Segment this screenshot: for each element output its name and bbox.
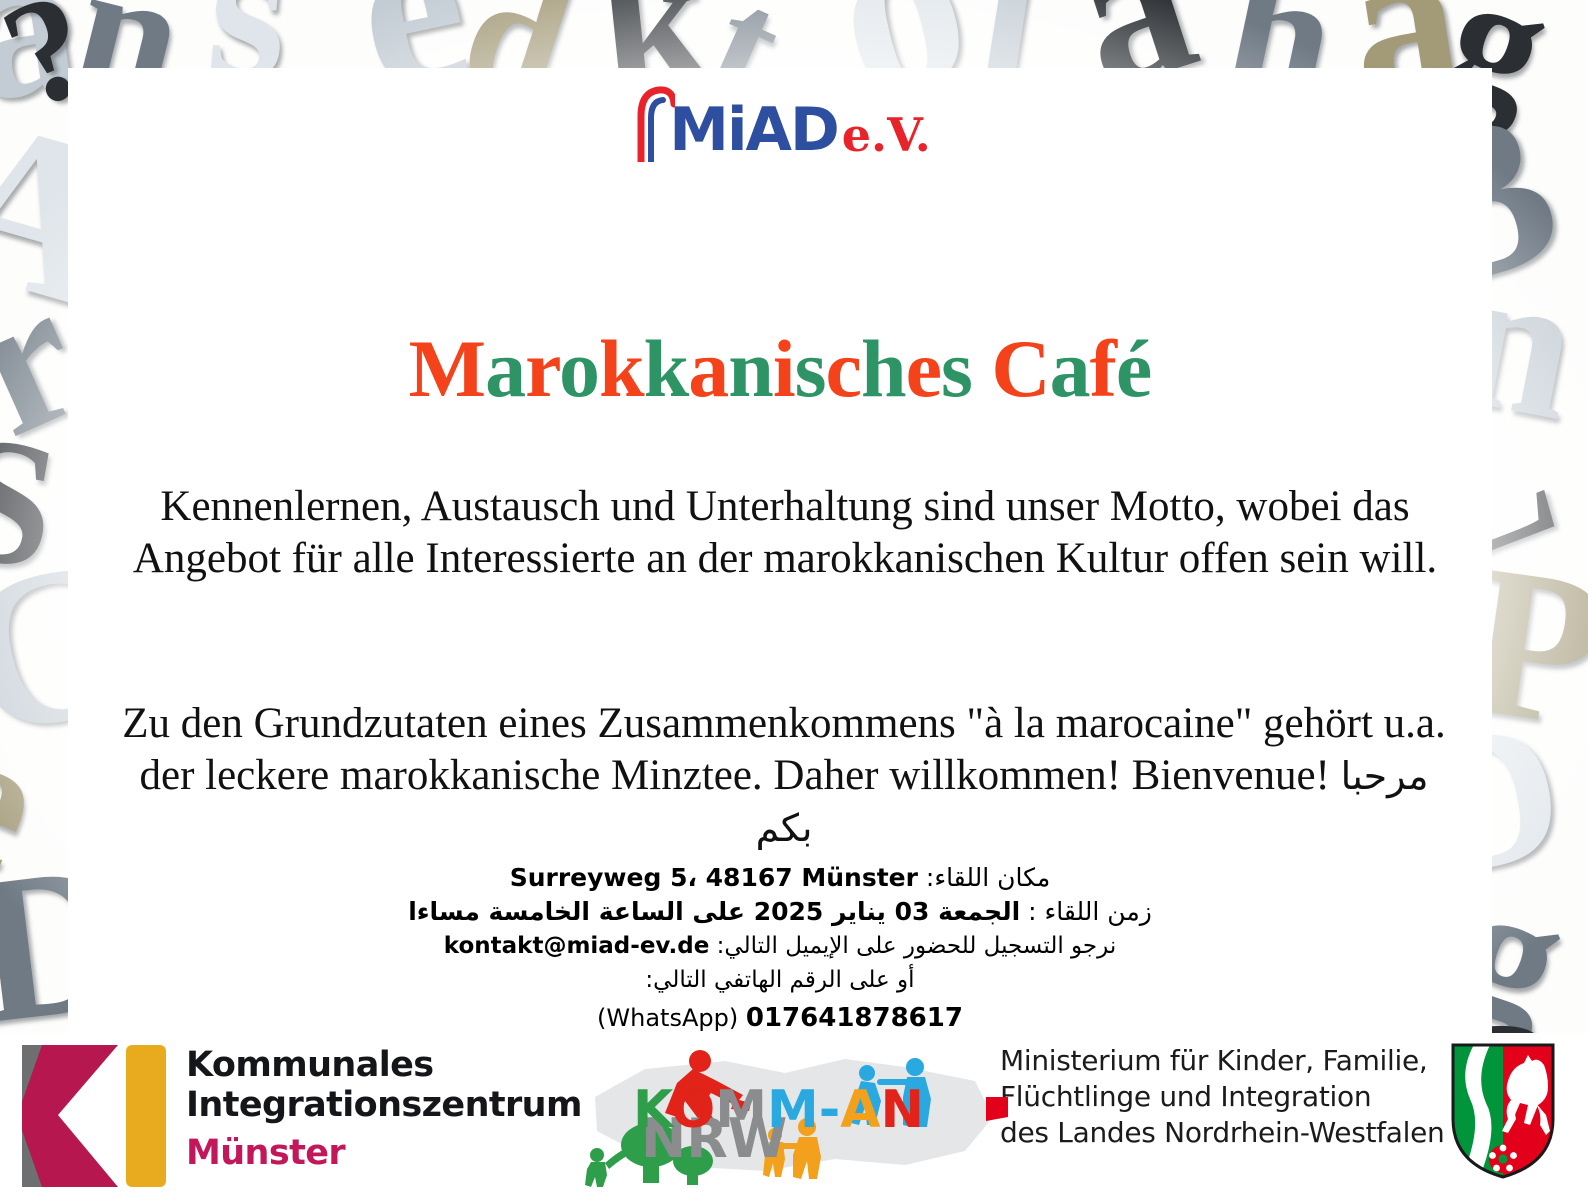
intro-paragraph: Kennenlernen, Austausch und Unterhaltung… [128, 481, 1442, 585]
ministry-line-2: Flüchtlinge und Integration [1000, 1079, 1430, 1115]
ministry-logo: Ministerium für Kinder, Familie, Flüchtl… [1000, 1043, 1430, 1151]
contact-phone-label: أو على الرقم الهاتفي التالي: [68, 963, 1492, 997]
title-letter-1: a [485, 323, 525, 414]
ki-text-block: Kommunales Integrationszentrum Münster [186, 1045, 582, 1175]
whatsapp-label: (WhatsApp) [597, 1004, 738, 1032]
title-letter-8: i [773, 323, 795, 414]
contact-location-label: مكان اللقاء: [926, 863, 1050, 892]
arch-icon [629, 82, 673, 160]
description-paragraph: Zu den Grundzutaten eines Zusammenkommen… [116, 698, 1452, 854]
ministry-flag-icon [986, 1095, 1008, 1121]
title-letter-3: o [559, 323, 599, 414]
page-title: Marokkanisches Café [68, 328, 1492, 410]
title-letter-5: k [644, 323, 689, 414]
ministry-line-3: des Landes Nordrhein-Westfalen [1000, 1115, 1430, 1151]
ki-muenster-logo: Kommunales Integrationszentrum Münster [8, 1037, 578, 1190]
title-letter-13: s [941, 323, 972, 414]
contact-time-value: الجمعة 03 يناير 2025 على الساعة الخامسة … [408, 897, 1020, 926]
komm-an-nrw-logo: NRW KOMM-AN [575, 1039, 1005, 1189]
title-letter-15: C [991, 323, 1049, 414]
contact-email-value[interactable]: kontakt@miad-ev.de [444, 933, 710, 959]
title-letter-7: n [728, 323, 773, 414]
contact-time: زمن اللقاء : الجمعة 03 يناير 2025 على ال… [68, 895, 1492, 929]
contact-location: مكان اللقاء: Surreyweg 5، 48167 Münster [68, 861, 1492, 895]
title-letter-9: s [795, 323, 826, 414]
logo-wordmark: MiAD [669, 100, 838, 160]
komm-an-title: KOMM-AN [633, 1080, 924, 1140]
contact-phone: (WhatsApp) 017641878617 [68, 1001, 1492, 1035]
ki-line-3: Münster [186, 1131, 582, 1175]
title-letter-12: e [906, 323, 941, 414]
contact-location-value: Surreyweg 5، 48167 Münster [510, 863, 918, 892]
title-letter-11: h [861, 323, 906, 414]
ki-line-1: Kommunales [186, 1045, 582, 1085]
title-letter-6: a [688, 323, 728, 414]
flyer-card: MiAD e.V. Marokkanisches Café Kennenlern… [68, 68, 1492, 1033]
title-letter-14 [972, 323, 992, 414]
title-letter-0: M [409, 323, 485, 414]
title-letter-2: r [525, 323, 559, 414]
nrw-coat-of-arms-icon [1448, 1041, 1558, 1181]
ministry-line-1: Ministerium für Kinder, Familie, [1000, 1043, 1430, 1079]
title-letter-10: c [826, 323, 861, 414]
contact-block: مكان اللقاء: Surreyweg 5، 48167 Münster … [68, 861, 1492, 1035]
contact-time-label: زمن اللقاء : [1028, 897, 1152, 926]
phone-number[interactable]: 017641878617 [746, 1003, 963, 1033]
ki-mark-icon [22, 1045, 172, 1187]
title-letter-16: a [1050, 323, 1090, 414]
description-german: Zu den Grundzutaten eines Zusammenkommen… [122, 700, 1445, 799]
ki-line-2: Integrationszentrum [186, 1085, 582, 1125]
contact-email: نرجو التسجيل للحضور على الإيميل التالي: … [68, 929, 1492, 963]
miad-logo: MiAD e.V. [68, 74, 1492, 166]
logo-suffix: e.V. [842, 112, 931, 158]
title-letter-17: f [1090, 323, 1116, 414]
contact-email-label: نرجو التسجيل للحضور على الإيميل التالي: [717, 933, 1117, 959]
title-letter-18: é [1116, 323, 1151, 414]
sponsor-footer: Kommunales Integrationszentrum Münster [0, 1033, 1588, 1190]
title-letter-4: k [599, 323, 644, 414]
